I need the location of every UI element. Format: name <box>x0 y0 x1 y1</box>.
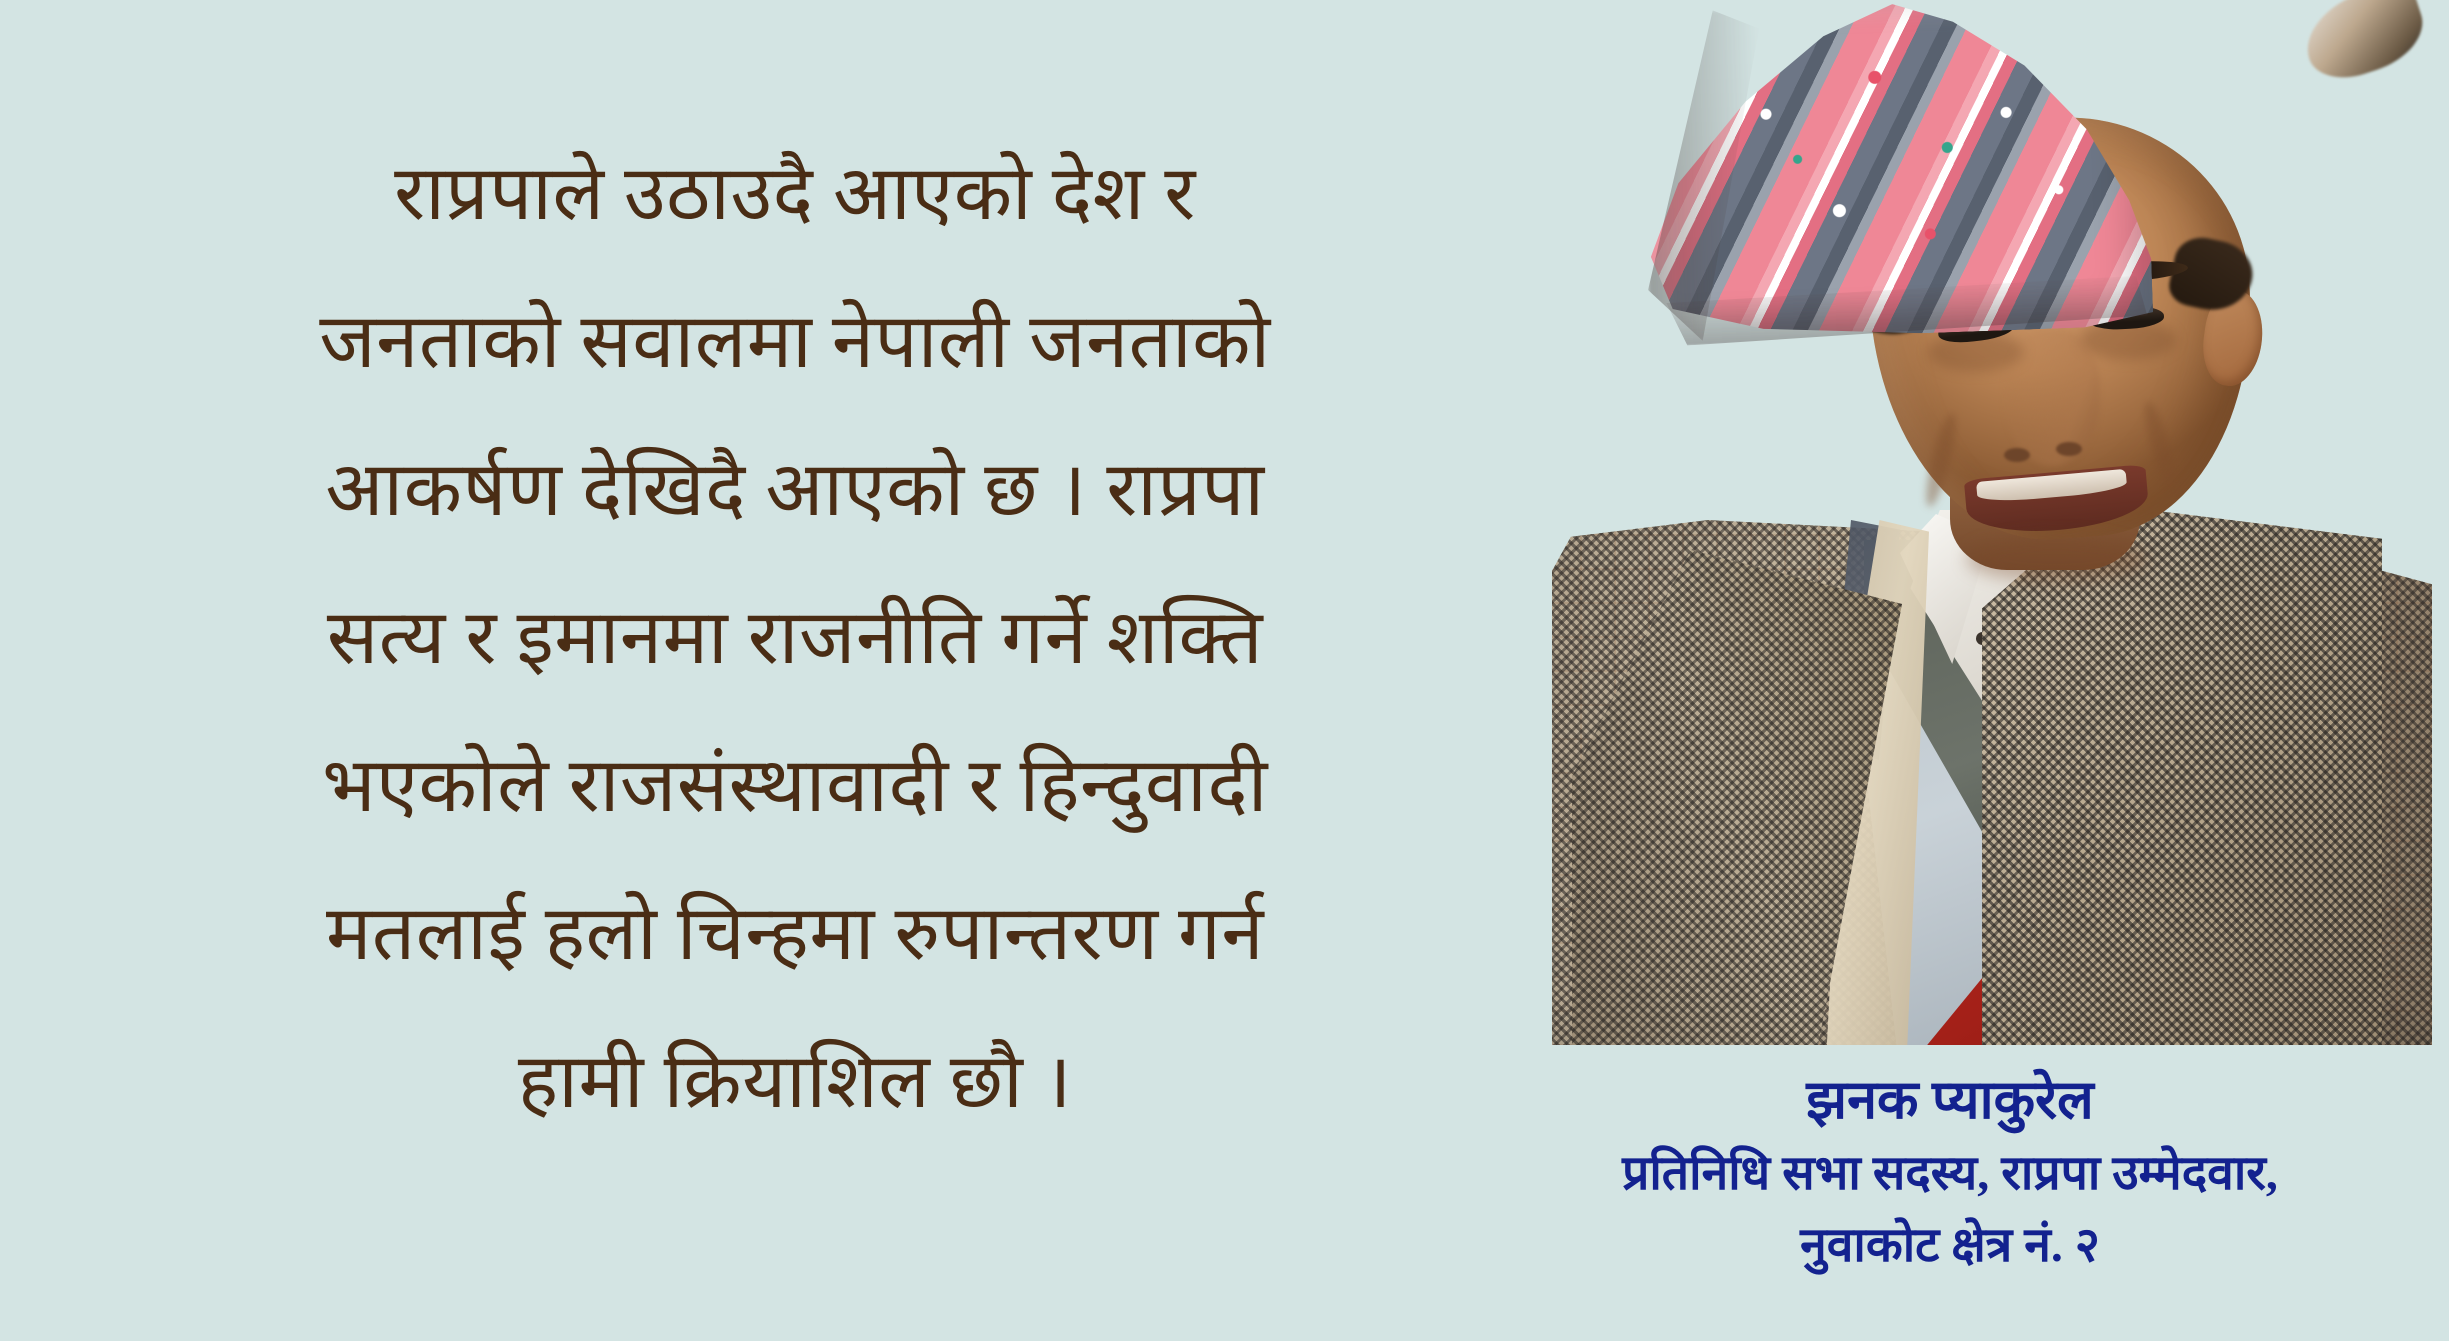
dhaka-topi-cap <box>1642 0 2153 343</box>
quote-line-1: राप्रपाले उठाउदै आएको देश र <box>394 120 1196 268</box>
nostril-right <box>2056 442 2082 456</box>
candidate-caption: झनक प्याकुरेल प्रतिनिधि सभा सदस्य, राप्र… <box>1470 1062 2430 1282</box>
quote-line-7: हामी क्रियाशिल छौ । <box>518 1008 1072 1156</box>
candidate-role-line-2: नुवाकोट क्षेत्र नं. २ <box>1470 1210 2430 1282</box>
candidate-portrait-photo <box>1552 0 2432 1045</box>
quote-line-6: मतलाई हलो चिन्हमा रुपान्तरण गर्न <box>326 860 1264 1008</box>
torso-clothing <box>1552 520 2432 1045</box>
portrait-frame <box>1552 0 2432 1045</box>
jacket-lapel-right <box>1982 504 2382 1045</box>
candidate-name: झनक प्याकुरेल <box>1470 1062 2430 1138</box>
far-shoulder-fragment <box>2295 0 2432 89</box>
quote-line-5: भएकोले राजसंस्थावादी र हिन्दुवादी <box>322 712 1268 860</box>
campaign-poster: राप्रपाले उठाउदै आएको देश र जनताको सवालम… <box>0 0 2449 1341</box>
quote-line-3: आकर्षण देखिदै आएको छ । राप्रपा <box>325 416 1264 564</box>
nostril-left <box>2004 448 2030 462</box>
candidate-role-line-1: प्रतिनिधि सभा सदस्य, राप्रपा उम्मेदवार, <box>1470 1138 2430 1210</box>
quote-text-block: राप्रपाले उठाउदै आएको देश र जनताको सवालम… <box>60 120 1530 1200</box>
quote-line-2: जनताको सवालमा नेपाली जनताको <box>319 268 1270 416</box>
quote-line-4: सत्य र इमानमा राजनीति गर्ने शक्ति <box>327 564 1263 712</box>
chin-shadow <box>1966 536 2146 582</box>
nose <box>2004 330 2100 466</box>
